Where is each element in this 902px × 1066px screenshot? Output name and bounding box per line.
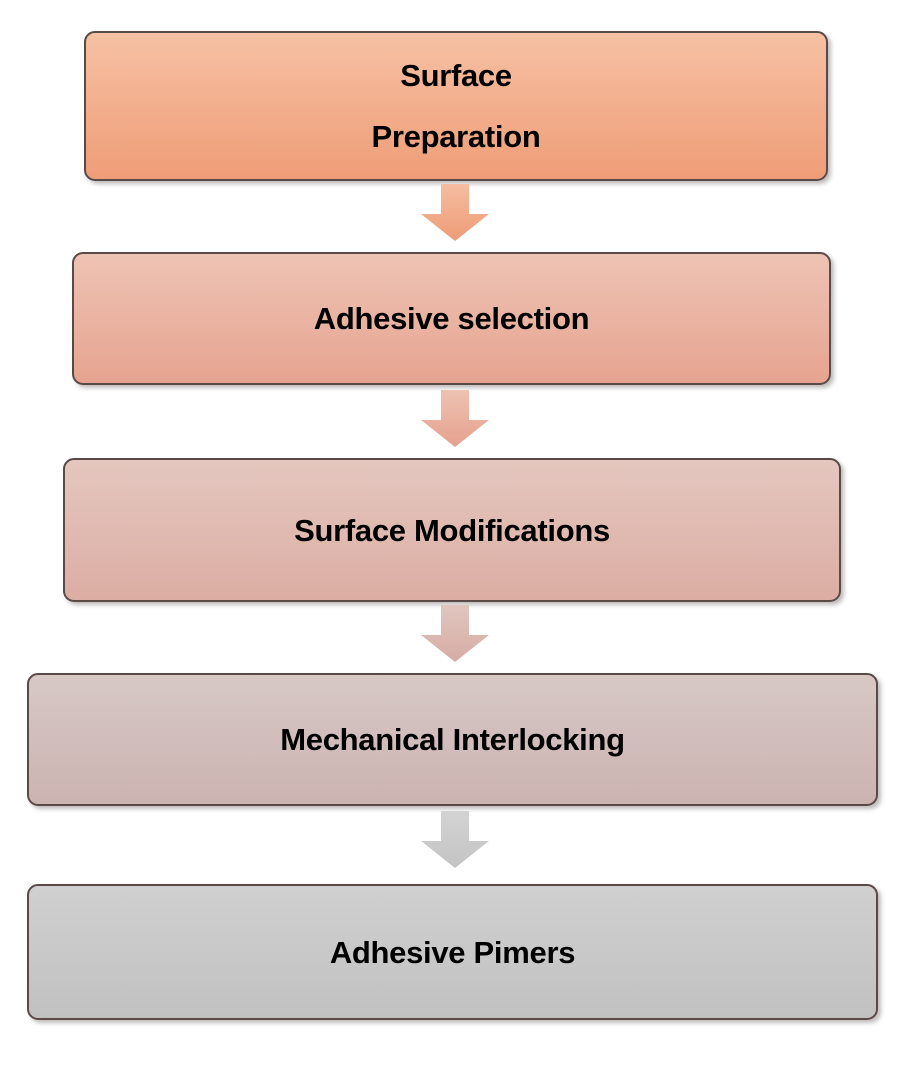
process-node-mechanical-interlocking[interactable]: Mechanical Interlocking <box>27 673 878 806</box>
node-label-line: Surface Modifications <box>294 515 610 546</box>
node-label-line: Mechanical Interlocking <box>280 724 625 755</box>
node-label-line: Adhesive Pimers <box>330 937 575 968</box>
process-node-surface-modifications[interactable]: Surface Modifications <box>63 458 841 602</box>
flow-arrow-down-icon <box>421 811 489 868</box>
node-label-line: Preparation <box>372 121 541 152</box>
flow-arrow-down-icon <box>421 605 489 662</box>
process-node-adhesive-selection[interactable]: Adhesive selection <box>72 252 831 385</box>
flow-arrow-down-icon <box>421 184 489 241</box>
node-label-line: Surface <box>400 60 512 91</box>
process-node-adhesive-primers[interactable]: Adhesive Pimers <box>27 884 878 1020</box>
flow-arrow-down-icon <box>421 390 489 447</box>
flowchart-canvas: Surface Preparation Adhesive selection <box>0 0 902 1066</box>
process-node-surface-preparation[interactable]: Surface Preparation <box>84 31 828 181</box>
node-label-line: Adhesive selection <box>314 303 589 334</box>
